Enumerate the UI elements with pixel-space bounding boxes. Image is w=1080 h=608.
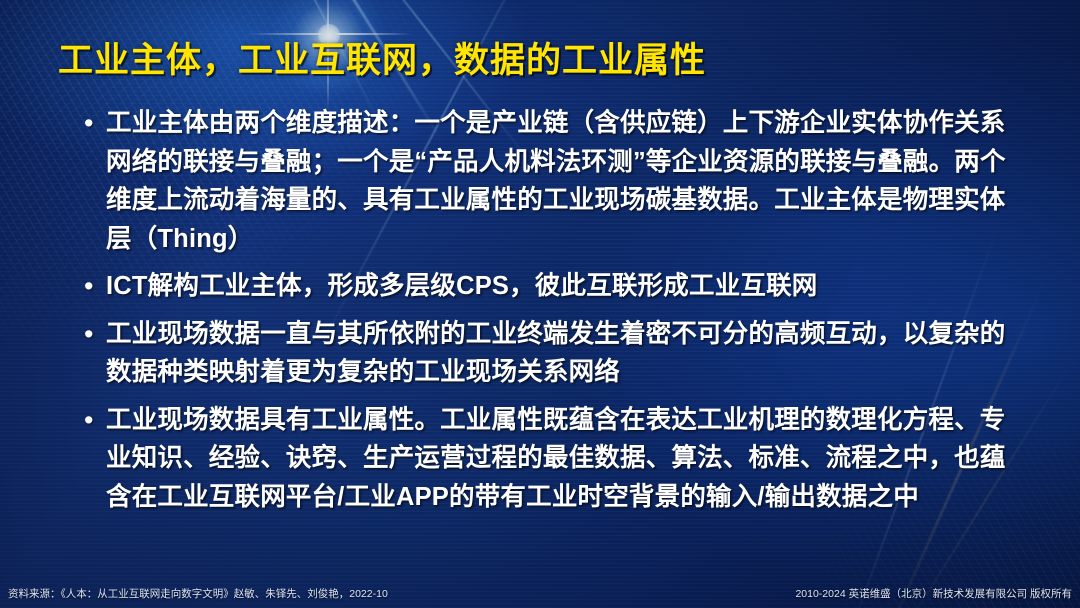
list-item-text: ICT解构工业主体，形成多层级CPS，彼此互联形成工业互联网 bbox=[106, 267, 1014, 306]
source-citation: 资料来源：《人本：从工业互联网走向数字文明》赵敏、朱铎先、刘俊艳，2022-10 bbox=[8, 586, 388, 601]
copyright-notice: 2010-2024 英诺维盛（北京）新技术发展有限公司 版权所有 bbox=[795, 586, 1072, 601]
bullet-list: • 工业主体由两个维度描述：一个是产业链（含供应链）上下游企业实体协作关系网络的… bbox=[84, 104, 1014, 525]
list-item: • 工业现场数据具有工业属性。工业属性既蕴含在表达工业机理的数理化方程、专业知识… bbox=[84, 401, 1014, 517]
list-item: • ICT解构工业主体，形成多层级CPS，彼此互联形成工业互联网 bbox=[84, 267, 1014, 306]
list-item-text: 工业主体由两个维度描述：一个是产业链（含供应链）上下游企业实体协作关系网络的联接… bbox=[106, 104, 1014, 258]
page-title: 工业主体，工业互联网，数据的工业属性 bbox=[58, 32, 706, 83]
bullet-dot-icon: • bbox=[84, 315, 106, 353]
slide-content: 工业主体，工业互联网，数据的工业属性 • 工业主体由两个维度描述：一个是产业链（… bbox=[0, 0, 1080, 608]
bullet-dot-icon: • bbox=[84, 401, 106, 439]
list-item-text: 工业现场数据一直与其所依附的工业终端发生着密不可分的高频互动，以复杂的数据种类映… bbox=[106, 315, 1014, 392]
bullet-dot-icon: • bbox=[84, 104, 106, 142]
list-item-text: 工业现场数据具有工业属性。工业属性既蕴含在表达工业机理的数理化方程、专业知识、经… bbox=[106, 401, 1014, 517]
list-item: • 工业主体由两个维度描述：一个是产业链（含供应链）上下游企业实体协作关系网络的… bbox=[84, 104, 1014, 258]
slide-canvas: 工业主体，工业互联网，数据的工业属性 • 工业主体由两个维度描述：一个是产业链（… bbox=[0, 0, 1080, 608]
bullet-dot-icon: • bbox=[84, 267, 106, 305]
list-item: • 工业现场数据一直与其所依附的工业终端发生着密不可分的高频互动，以复杂的数据种… bbox=[84, 315, 1014, 392]
